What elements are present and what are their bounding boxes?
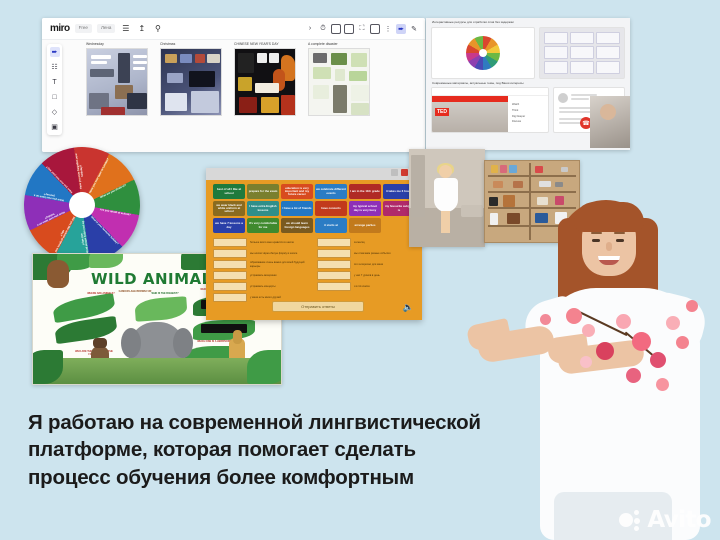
wheel-segment-label: Do you enjoy school projects and why? [76,205,90,259]
wheel-graphic [466,36,500,70]
question-text: больше всего мне нравится в школе [250,241,294,244]
frame-thumbnail[interactable] [160,48,222,116]
flashcard-grid[interactable] [539,27,625,79]
frame-item[interactable]: CHINESE NEW YEAR'S DAY [234,42,296,116]
worksheet-toolbar [206,168,422,180]
ted-video-card[interactable]: TED Watch Think Dig Deeper Discuss [431,87,549,133]
wheel-segment-label: Are you afraid of school? [81,205,135,218]
question-row[interactable]: мы носим чёрно-белую форму в школе [213,249,311,258]
frame-label: A complete disaster [308,42,370,46]
word-tile-grid[interactable]: best of all I like at school prepare for… [213,184,415,233]
question-row[interactable]: у нас 7 уроков в день [317,271,415,280]
frame-item[interactable]: Wednesday [86,42,148,116]
panel-caption-mid: Современные материалы, актуальные темы, … [426,79,630,88]
question-text: мы носим чёрно-белую форму в школе [250,252,297,255]
panel-row-tools[interactable] [426,27,630,79]
miro-board-name-chip[interactable]: Лена [97,24,115,33]
search-icon[interactable]: ⚲ [152,23,163,34]
panel-caption-top: Интерактивные ресурсы для отработки слов… [426,18,630,27]
ted-logo: TED [435,108,449,116]
flashcard[interactable] [544,32,568,45]
miro-topbar: miro Free Лена ☰ ↥ ⚲ › ⏱ ⛶ ⋮ ➨ ✎ [42,18,425,40]
frame-label: Christmas [160,42,222,46]
miro-frames: Wednesday Christmas [86,42,370,116]
text-icon[interactable]: T [50,77,60,87]
flashcard[interactable] [596,46,620,59]
sticky-note-icon[interactable]: □ [50,92,60,102]
poster-label: WHO IS THE BIGGEST? [145,292,185,295]
answer-blank[interactable] [317,238,351,247]
question-text: устраивать концерты [250,285,275,288]
answer-blank[interactable] [213,271,247,280]
word-tile[interactable]: my typical school day is very busy [349,201,381,216]
resources-panel[interactable]: Интерактивные ресурсы для отработки слов… [426,18,630,150]
word-tile[interactable]: it's very comfortable for me [247,218,279,233]
question-text: устраивать вечеринки [250,274,277,277]
shape-icon[interactable]: ◇ [50,107,60,117]
question-row[interactable]: это интересно для меня [317,260,415,269]
timer-icon[interactable]: ⏱ [318,24,328,34]
caption-text: Я работаю на современной лингвистической… [28,409,584,491]
question-rows[interactable]: больше всего мне нравится в школе за мес… [213,238,415,302]
avito-watermark: Avito [619,507,711,533]
flashcard[interactable] [596,61,620,74]
wheel-segment-label: Have you ever forgotten your birthday? [74,151,88,205]
frame-label: Wednesday [86,42,148,46]
frame-thumbnail[interactable] [234,48,296,116]
record-icon[interactable] [401,169,408,176]
question-text: это интересно для меня [354,263,383,266]
frame-icon[interactable] [331,24,341,34]
word-tile[interactable]: prepare for the exam [247,184,279,199]
avito-logo-icon [619,508,643,532]
word-tile[interactable]: we wear black and white uniform at schoo… [213,201,245,216]
avito-wordmark: Avito [647,507,711,533]
answer-blank[interactable] [213,293,247,302]
question-row[interactable]: устраивать вечеринки [213,271,311,280]
frame-thumbnail[interactable] [308,48,370,116]
flashcard[interactable] [570,61,594,74]
ted-menu-item[interactable]: Discuss [512,119,548,125]
answer-blank[interactable] [317,282,351,291]
miro-toolbar[interactable]: › ⏱ ⛶ ⋮ ➨ ✎ [305,24,419,34]
more-icon[interactable]: ⋮ [383,24,393,34]
question-row[interactable]: за месяц [317,238,415,247]
word-tile[interactable]: education is very important and my futur… [281,184,313,199]
word-tile[interactable]: arrange parties [349,218,381,233]
miro-logo: miro [50,23,70,34]
cursor-icon[interactable]: ➨ [396,24,406,34]
card-icon[interactable] [344,24,354,34]
question-row[interactable]: образование очень важно для моей будущей… [213,260,311,269]
frame-item[interactable]: A complete disaster [308,42,370,116]
word-tile[interactable]: we should learn foreign languages [281,218,313,233]
speaker-photo [590,96,630,148]
frame-icon[interactable]: ☷ [50,62,60,72]
question-row[interactable]: мы отмечаем разные события [317,249,415,258]
flashcard[interactable] [544,46,568,59]
question-text: я в 11 классе [354,285,370,288]
ted-menu[interactable]: Watch Think Dig Deeper Discuss [510,102,548,125]
frame-item[interactable]: Christmas [160,42,222,116]
question-row[interactable]: устраивать концерты [213,282,311,291]
answer-blank[interactable] [213,260,247,269]
submit-answers-button[interactable]: Отправить ответы [272,301,364,312]
word-tile[interactable]: have concerts [315,201,347,216]
wheel-segment-label: Have you ever been to London? [82,157,110,206]
poster-ground [33,358,281,384]
wheel-segment-label: What is your favourite holiday? [80,205,120,246]
flashcard[interactable] [570,46,594,59]
settings-icon[interactable] [391,169,398,176]
word-tile[interactable]: I have extra English lessons [247,201,279,216]
caption-line-1: Я работаю на современной лингвистической [28,409,584,436]
image-icon[interactable]: ▣ [50,122,60,132]
caption-line-3: процесс обучения более комфортным [28,464,584,491]
word-tile[interactable]: I am in the 11th grade [349,184,381,199]
question-row[interactable]: я в 11 классе [317,282,415,291]
answer-blank[interactable] [317,249,351,258]
flashcard[interactable] [596,32,620,45]
word-tile[interactable]: I have a lot of friends [281,201,313,216]
miro-canvas[interactable]: ➨ ☷ T □ ◇ ▣ Wednesday [42,40,425,152]
cursor-icon[interactable]: ➨ [50,47,60,57]
miro-plan-chip[interactable]: Free [75,24,92,33]
mini-spinner-wheel[interactable] [431,27,535,79]
frame-label: CHINESE NEW YEAR'S DAY [234,42,296,46]
question-row[interactable]: больше всего мне нравится в школе [213,238,311,247]
answer-blank[interactable] [317,260,351,269]
question-text: мы отмечаем разные события [354,252,391,255]
interactive-worksheet[interactable]: best of all I like at school prepare for… [206,168,422,320]
menu-icon[interactable]: ☰ [120,23,131,34]
flashcard[interactable] [570,32,594,45]
doll-figure [433,165,459,235]
spinner-wheel[interactable]: Are you afraid of school? What is your f… [16,139,147,270]
wheel-segment-label: Have you ever been on a journey? [29,189,83,205]
miro-left-toolbar[interactable]: ➨ ☷ T □ ◇ ▣ [47,44,62,135]
focus-icon[interactable]: ⛶ [357,24,367,34]
word-tile[interactable]: we celebrate different events [315,184,347,199]
question-text: за месяц [354,241,365,244]
caption-line-2: платформе, которая помогает сделать [28,436,584,463]
word-tile[interactable]: we have 7 lessons a day [213,218,245,233]
grid-icon[interactable] [370,24,380,34]
question-text: образование очень важно для моей будущей… [250,261,311,267]
miro-window[interactable]: miro Free Лена ☰ ↥ ⚲ › ⏱ ⛶ ⋮ ➨ ✎ ➨ ☷ T □… [42,18,425,152]
question-text: у меня есть много друзей [250,296,281,299]
flashcard[interactable] [544,61,568,74]
word-tile[interactable]: best of all I like at school [213,184,245,199]
answer-blank[interactable] [317,271,351,280]
word-tile[interactable]: it starts at [315,218,347,233]
upload-icon[interactable]: ↥ [136,23,147,34]
answer-blank[interactable] [213,238,247,247]
answer-blank[interactable] [213,249,247,258]
wheel-segment-label: Did you like school projects and why? [51,202,82,253]
frame-thumbnail[interactable] [86,48,148,116]
wheel-segment-label: What are you afraid of? [82,181,132,208]
answer-blank[interactable] [213,282,247,291]
wheel-segment-label: Have you ever been on a holiday? [31,199,82,228]
speaker-icon[interactable]: 🔈 [403,303,414,312]
play-icon[interactable]: › [305,24,315,34]
ted-video-frame[interactable] [432,102,508,133]
pen-icon[interactable]: ✎ [409,24,419,34]
question-text: у нас 7 уроков в день [354,274,380,277]
wheel-segment-label: Have you ever lost your way? [44,164,84,205]
